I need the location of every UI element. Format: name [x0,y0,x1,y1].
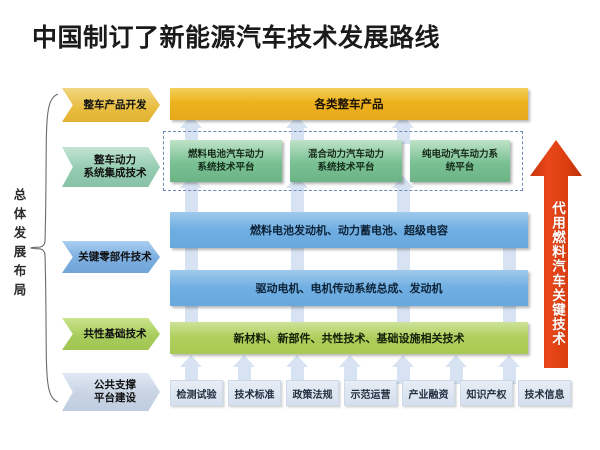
connector-arrowhead-icon [286,355,308,367]
platform-box-line2: 系统技术平台 [197,162,254,173]
sidebar-item-vehicle-product-development[interactable]: 整车产品开发 [62,88,160,122]
connector-stem [291,248,304,270]
support-box-label: 知识产权 [467,386,507,401]
sidebar-item-label: 共性基础技术 [84,328,147,341]
sidebar-item-label: 关键零部件技术 [78,251,152,264]
alt-fuel-vehicle-tech-label: 代用燃料汽车关键技术 [540,182,566,364]
platform-box-hybrid[interactable]: 混合动力汽车动力 系统技术平台 [290,140,402,182]
support-box-label: 检测试验 [177,386,217,401]
component-bar-label: 驱动电机、电机传动系统总成、发动机 [256,280,443,296]
sidebar-item-label-line1: 公共支撑 [94,379,136,392]
diagram-canvas: 中国制订了新能源汽车技术发展路线 总 体 发 展 布 局 整车产品开发 整车动力… [0,0,600,450]
vehicle-products-bar[interactable]: 各类整车产品 [170,88,528,120]
sidebar-item-powertrain-integration[interactable]: 整车动力 系统集成技术 [62,147,160,187]
connector-arrowhead-icon [445,355,467,367]
platform-box-fuel-cell[interactable]: 燃料电池汽车动力 系统技术平台 [170,140,282,182]
connector-stem [503,248,516,270]
support-box-testing[interactable]: 检测试验 [170,380,223,406]
support-box-label: 政策法规 [293,386,333,401]
sidebar-item-label: 整车产品开发 [84,99,147,112]
platform-box-line1: 燃料电池汽车动力 [188,149,264,160]
support-box-demonstration[interactable]: 示范运营 [344,380,397,406]
connector-arrowhead-icon [498,355,520,367]
platform-box-line1: 混合动力汽车动力 [308,149,384,160]
support-box-standards[interactable]: 技术标准 [228,380,281,406]
curly-brace-icon [28,92,62,404]
connector-arrowhead-icon [233,355,255,367]
component-bar-motor[interactable]: 驱动电机、电机传动系统总成、发动机 [170,270,528,306]
sidebar-item-key-components[interactable]: 关键零部件技术 [62,241,160,273]
connector-stem [185,248,198,270]
foundation-bar[interactable]: 新材料、新部件、共性技术、基础设施相关技术 [170,322,528,354]
platform-box-line2: 系统技术平台 [317,162,374,173]
platform-box-line2: 统平台 [446,162,475,173]
support-box-policy[interactable]: 政策法规 [286,380,339,406]
component-bar-energy[interactable]: 燃料电池发动机、动力蓄电池、超级电容 [170,212,528,248]
sidebar-item-label-line2: 平台建设 [94,392,136,405]
vehicle-products-label: 各类整车产品 [315,96,384,112]
support-box-label: 示范运营 [351,386,391,401]
sidebar-item-common-basic-tech[interactable]: 共性基础技术 [62,318,160,350]
connector-arrowhead-icon [180,355,202,367]
connector-stem [397,248,410,270]
foundation-bar-label: 新材料、新部件、共性技术、基础设施相关技术 [234,330,465,346]
support-box-tech-info[interactable]: 技术信息 [518,380,571,406]
platform-box-line1: 纯电动汽车动力系 [422,149,498,160]
page-title: 中国制订了新能源汽车技术发展路线 [32,18,440,54]
sidebar-item-label-line2: 系统集成技术 [84,167,147,180]
connector-arrowhead-icon [339,355,361,367]
support-box-label: 产业融资 [409,386,449,401]
platform-box-battery-electric[interactable]: 纯电动汽车动力系 统平台 [410,140,510,182]
connector-arrowhead-icon [392,355,414,367]
sidebar-item-public-support-platform[interactable]: 公共支撑 平台建设 [62,373,160,411]
support-box-label: 技术标准 [235,386,275,401]
sidebar-item-label-line1: 整车动力 [84,154,147,167]
support-box-financing[interactable]: 产业融资 [402,380,455,406]
support-box-ip[interactable]: 知识产权 [460,380,513,406]
support-box-label: 技术信息 [525,386,565,401]
component-bar-label: 燃料电池发动机、动力蓄电池、超级电容 [250,222,448,238]
